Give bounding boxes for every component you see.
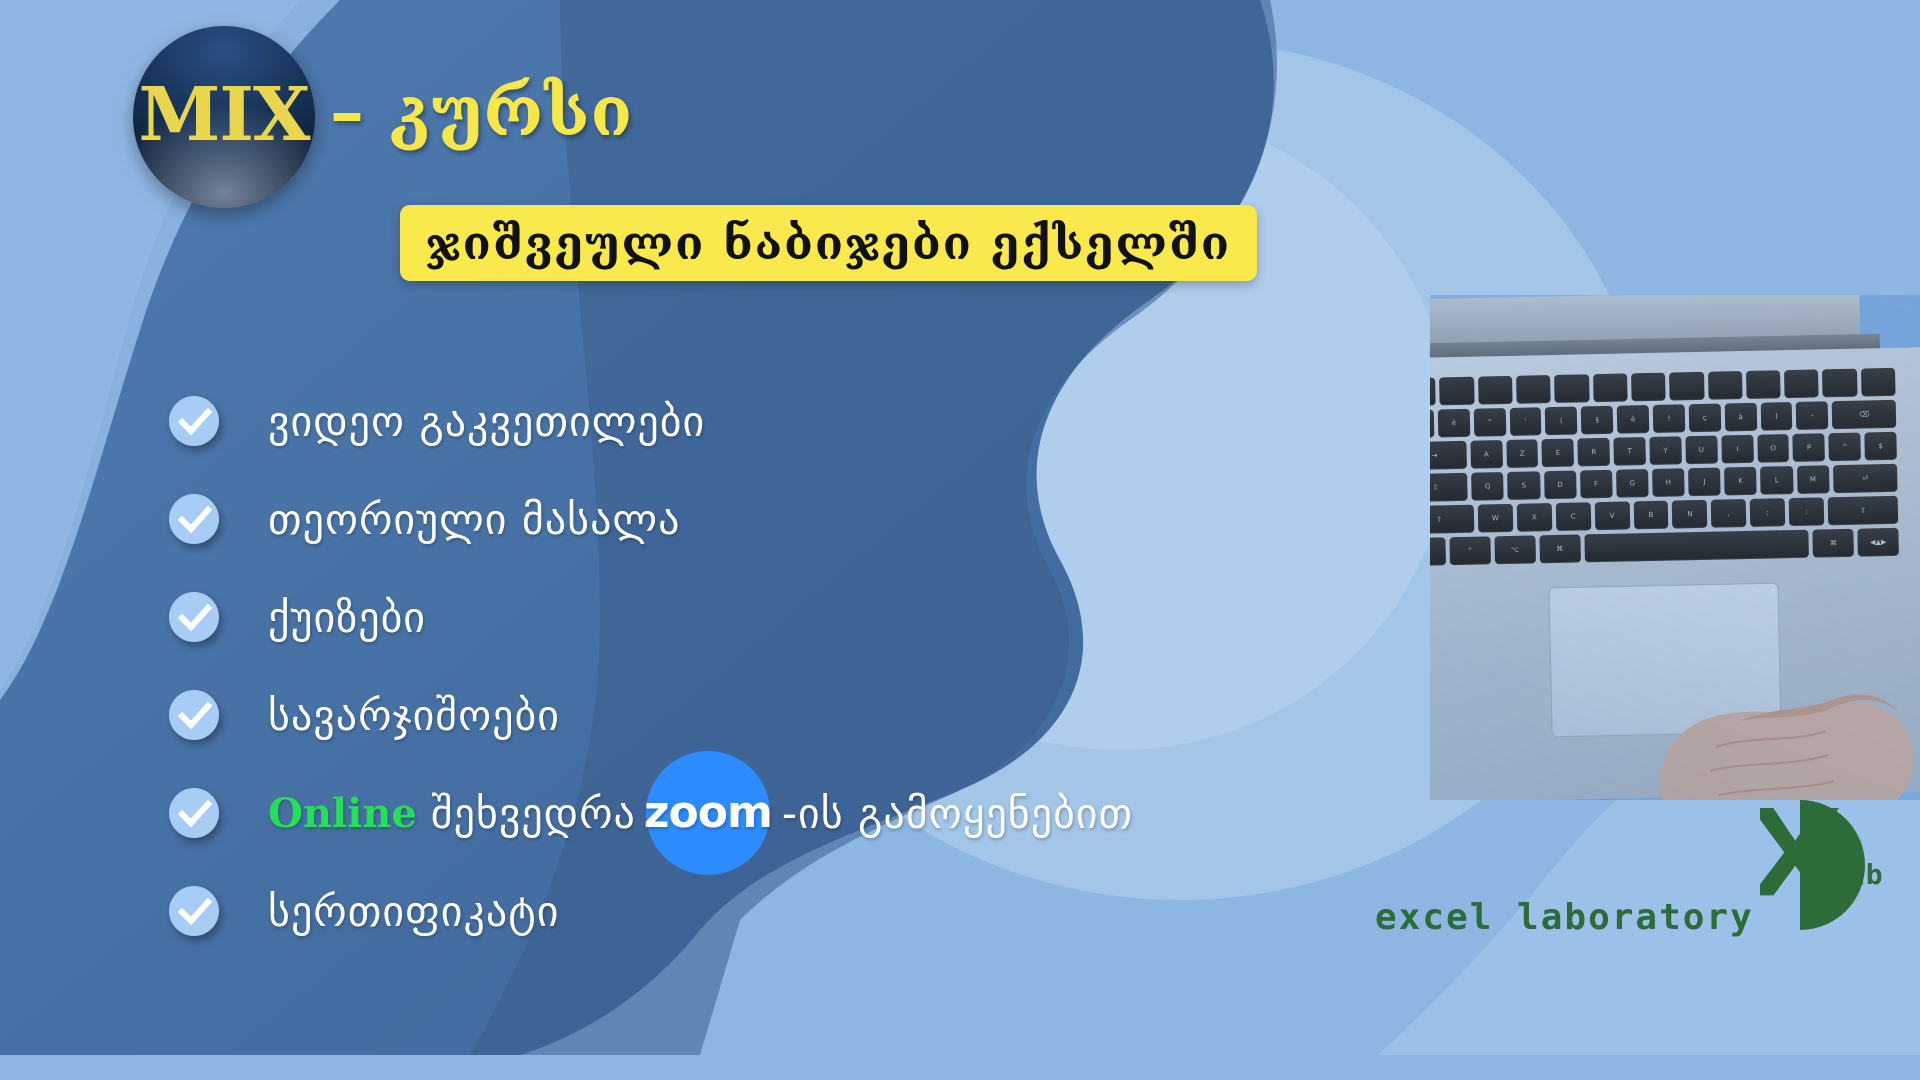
zoom-logo-badge[interactable]: zoom: [646, 751, 770, 875]
mix-logo-badge: MIX: [133, 26, 315, 208]
list-item: ვიდეო გაკვეთილები: [168, 392, 1133, 450]
list-item: თეორიული მასალა: [168, 490, 1133, 548]
subtitle-banner: ჯიშვეული ნაბიჯები ექსელში: [400, 205, 1257, 281]
list-item-label: სერთიფიკატი: [268, 887, 559, 936]
check-circle-icon: [168, 885, 220, 937]
poster-canvas: esc & é ": [0, 0, 1920, 1080]
check-circle-icon: [168, 689, 220, 741]
check-circle-icon: [168, 591, 220, 643]
photo-color-tint: [1430, 295, 1920, 800]
check-circle-icon: [168, 787, 220, 839]
list-item: სავარჯიშოები: [168, 686, 1133, 744]
online-suffix-text: -ის გამოყენებით: [782, 789, 1133, 838]
online-keyword: Online: [268, 790, 417, 837]
brand-wordmark: excel laboratory: [1375, 900, 1754, 940]
page-title: – კურსი: [330, 72, 633, 152]
online-meeting-word: შეხვედრა: [431, 789, 636, 838]
list-item-label: ქუიზები: [268, 593, 426, 642]
feature-list: ვიდეო გაკვეთილები თეორიული მასალა ქუიზებ…: [168, 392, 1133, 940]
list-item: სერთიფიკატი: [168, 882, 1133, 940]
zoom-logo-text: zoom: [644, 791, 772, 835]
xlab-logo-sub: lab: [1830, 858, 1884, 891]
list-item-label: თეორიული მასალა: [268, 495, 680, 544]
mix-logo-text: MIX: [139, 72, 310, 158]
list-item-label: Online შეხვედრა zoom -ის გამოყენებით: [268, 751, 1133, 875]
check-circle-icon: [168, 395, 220, 447]
laptop-photo: esc & é ": [1430, 295, 1920, 800]
subtitle-banner-text: ჯიშვეული ნაბიჯები ექსელში: [426, 216, 1231, 270]
list-item-label: ვიდეო გაკვეთილები: [268, 397, 705, 446]
list-item-label: სავარჯიშოები: [268, 691, 560, 740]
list-item-online: Online შეხვედრა zoom -ის გამოყენებით: [168, 784, 1133, 842]
brand-name: excel laboratory: [1375, 900, 1754, 940]
list-item: ქუიზები: [168, 588, 1133, 646]
check-circle-icon: [168, 493, 220, 545]
